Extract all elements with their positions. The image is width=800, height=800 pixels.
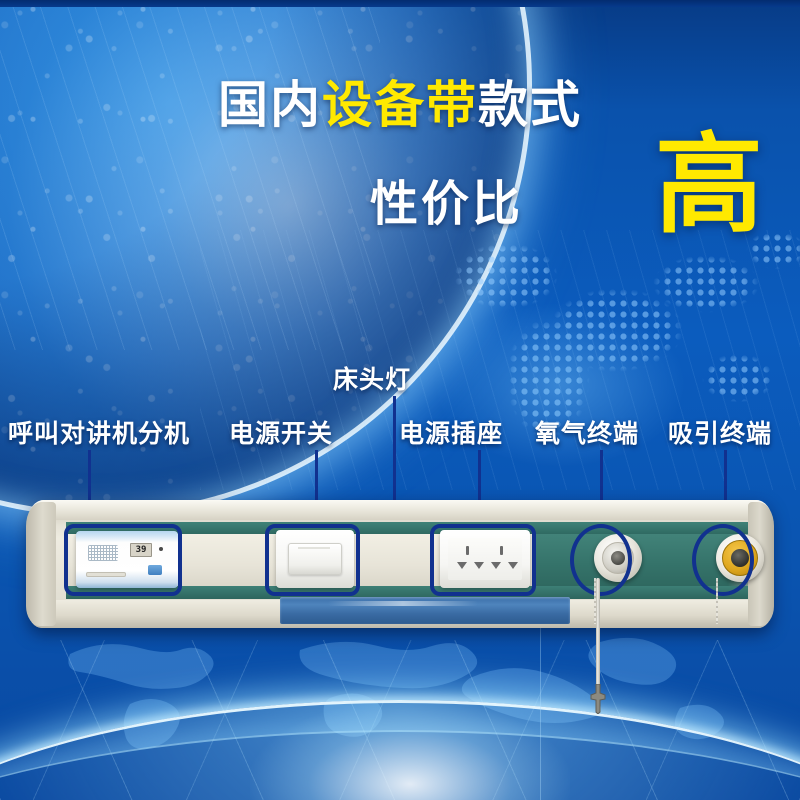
speaker-grille-icon <box>88 545 118 561</box>
banner-stage: 国内设备带款式 性价比 高 呼叫对讲机分机 电源开关 床头灯 电源插座 氧气终端… <box>0 0 800 800</box>
oxygen-terminal-port <box>611 551 625 565</box>
background-vertical-line <box>540 620 541 800</box>
power-socket-plate[interactable] <box>440 530 530 588</box>
headline-part-2: 设备带 <box>322 76 478 134</box>
callout-label-bed-lamp: 床头灯 <box>333 360 411 396</box>
top-dark-band <box>0 0 800 7</box>
socket-slot-icon <box>491 562 501 569</box>
callout-label-power-switch: 电源开关 <box>229 414 333 450</box>
suction-cord <box>716 578 718 624</box>
oxygen-terminal-outlet[interactable] <box>594 534 642 582</box>
socket-slot-icon <box>508 562 518 569</box>
socket-slot-icon <box>474 562 484 569</box>
horizon-hotspot <box>250 700 570 800</box>
panel-end-cap-left <box>26 502 56 626</box>
socket-face <box>448 538 522 580</box>
callout-label-power-socket: 电源插座 <box>399 414 503 450</box>
headline-line-2: 性价比 <box>370 164 523 234</box>
light-strip-highlight <box>328 601 478 606</box>
headline-big-char: 高 <box>655 132 763 240</box>
nurse-call-intercom-unit[interactable]: 39 <box>76 531 178 588</box>
power-switch-plate[interactable] <box>276 530 354 588</box>
bed-head-unit-panel: 39 <box>28 500 772 628</box>
callout-label-intercom: 呼叫对讲机分机 <box>8 414 190 450</box>
socket-slot-icon <box>457 562 467 569</box>
headline-line-2-block: 性价比 高 <box>0 160 800 240</box>
intercom-call-button[interactable] <box>148 565 162 575</box>
bed-lamp-pull-cord[interactable] <box>596 578 600 686</box>
callout-label-oxygen-terminal: 氧气终端 <box>535 414 639 450</box>
headline-part-3: 款式 <box>478 76 582 134</box>
headline-line-1: 国内设备带款式 <box>218 78 582 132</box>
socket-pin-icon <box>466 546 469 555</box>
intercom-display: 39 <box>130 543 152 557</box>
headline-part-1: 国内 <box>218 76 322 134</box>
indicator-light-icon <box>159 547 163 551</box>
suction-terminal-outlet[interactable] <box>716 534 764 582</box>
intercom-label-strip <box>86 572 126 577</box>
callout-label-suction-terminal: 吸引终端 <box>668 414 772 450</box>
socket-pin-icon <box>500 546 503 555</box>
pull-cord-handle[interactable] <box>583 684 613 714</box>
rocker-switch-line <box>298 547 330 549</box>
panel-top-lip <box>28 500 772 520</box>
suction-terminal-port <box>731 549 749 567</box>
